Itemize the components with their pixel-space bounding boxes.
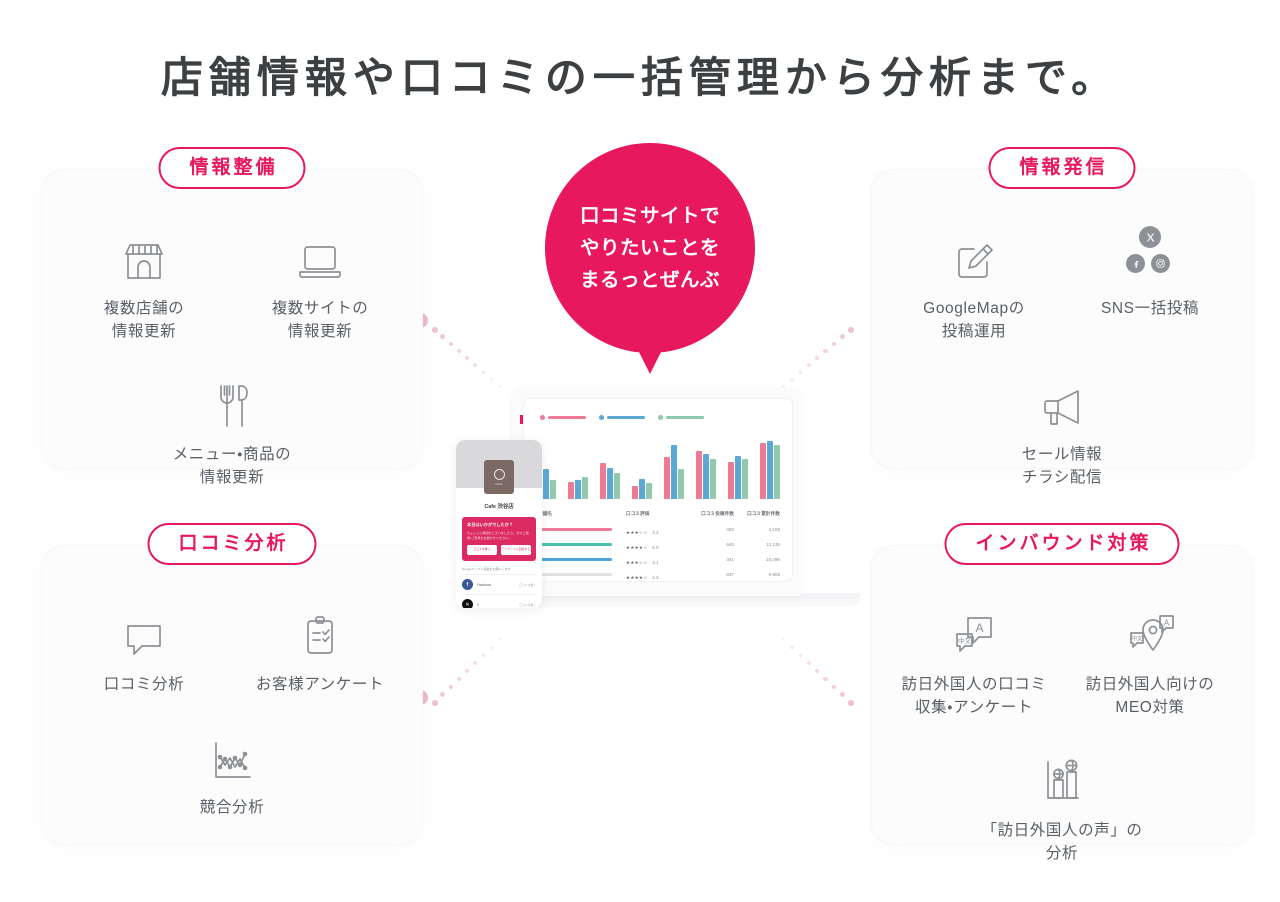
chart-bar xyxy=(735,456,741,499)
feature-competitor-analysis[interactable]: 競合分析 xyxy=(42,697,422,820)
bar-group xyxy=(728,456,748,499)
feature-label: SNS一括投稿 xyxy=(1101,298,1199,321)
phone-hero-image: Cafe xyxy=(456,440,542,488)
chart-bar xyxy=(760,443,766,499)
connector-dot xyxy=(473,363,477,367)
connector-dot xyxy=(832,342,837,347)
social-avatar-icon: ✕ xyxy=(462,599,473,608)
chart-bar xyxy=(710,459,716,499)
svg-text:A: A xyxy=(1164,619,1170,628)
pencil-square-icon xyxy=(938,224,1010,286)
chart-bar xyxy=(742,459,748,499)
column-header: 店舗名 xyxy=(538,511,626,517)
connector-dot xyxy=(465,356,469,360)
feature-label: 複数サイトの 情報更新 xyxy=(272,298,369,344)
post-count: 450 xyxy=(688,527,734,532)
connector-dot xyxy=(815,356,819,360)
card-badge: 情報発信 xyxy=(988,147,1135,189)
feature-label: メニュー・商品の 情報更新 xyxy=(173,444,292,490)
review-note: Googleマップへ投稿をお願いします xyxy=(462,567,536,571)
connector-dot xyxy=(432,700,438,706)
legend-item xyxy=(658,415,704,420)
social-action[interactable]: 口コミを書く xyxy=(519,583,536,587)
bar-group xyxy=(632,479,652,499)
connector-dot xyxy=(848,327,854,333)
chart-bar xyxy=(568,482,574,499)
map-pin-translate-icon: A 中文 xyxy=(1114,600,1186,662)
center-bubble-text: 口コミサイトで やりたいことを まるっとぜんぶ xyxy=(580,200,720,297)
write-review-button[interactable]: 口コミを書く xyxy=(467,545,497,555)
feature-menu-product-update[interactable]: メニュー・商品の 情報更新 xyxy=(42,344,422,490)
chart-bar xyxy=(600,463,606,499)
rating-stars: ★★★☆☆ xyxy=(626,530,648,535)
page-title: 店舗情報や口コミの一括管理から分析まで。 xyxy=(0,44,1280,105)
card-inbound-measures: インバウンド対策 A 中文 訪日外国人の口コミ 収集・アンケート xyxy=(872,546,1252,844)
bar-chart-globe-icon xyxy=(1026,746,1098,808)
feature-sns-bulk-post[interactable]: SNS一括投稿 xyxy=(1062,216,1238,344)
facebook-icon xyxy=(1126,254,1145,273)
feature-label: 複数店舗の 情報更新 xyxy=(104,298,185,344)
clipboard-check-icon xyxy=(284,600,356,662)
review-table: 店舗名 口コミ評価 口コミ投稿件数 口コミ累計件数 ★★★☆☆ 3.34504,… xyxy=(538,511,780,581)
social-review-row[interactable]: fFacebook口コミを書く xyxy=(462,574,536,594)
connector-dot xyxy=(848,700,854,706)
survey-prompt-card: 本日はいかがでしたか？ ちょこっと時間がございましたら、ぜひご感想・ご意見をお聞… xyxy=(462,517,536,561)
feature-label: GoogleMapの 投稿運用 xyxy=(923,298,1025,344)
speech-bubble-icon xyxy=(108,600,180,662)
connector-dot xyxy=(449,685,454,690)
chart-bar xyxy=(639,479,645,499)
connector-dot xyxy=(815,669,819,673)
bar-group xyxy=(664,445,684,499)
infographic-root: 店舗情報や口コミの一括管理から分析まで。 情報整備 複数店舗の 情報更新 xyxy=(0,0,1280,902)
chart-bar xyxy=(550,480,556,499)
store-color-swatch xyxy=(538,573,612,576)
social-avatar-icon: f xyxy=(462,579,473,590)
connector-dot xyxy=(790,646,794,650)
connector-dot xyxy=(449,342,454,347)
feature-googlemap-posting[interactable]: GoogleMapの 投稿運用 xyxy=(886,216,1062,344)
chart-bar xyxy=(671,445,677,499)
chart-bar xyxy=(767,441,773,499)
connector-dot xyxy=(465,669,469,673)
legend-dot-icon xyxy=(599,415,604,420)
rating-stars: ★★★☆☆ xyxy=(626,560,648,565)
svg-text:中文: 中文 xyxy=(1131,635,1143,643)
feature-label: 「訪日外国人の声」の 分析 xyxy=(981,820,1142,866)
store-color-swatch xyxy=(538,558,612,561)
column-header: 口コミ投稿件数 xyxy=(688,511,734,517)
connector-dot xyxy=(490,646,494,650)
connector-dot xyxy=(432,327,438,333)
feature-foreign-meo[interactable]: A 中文 訪日外国人向けの MEO対策 xyxy=(1062,592,1238,720)
connector-dot xyxy=(807,363,811,367)
logo-ring-icon xyxy=(494,469,505,480)
table-row[interactable]: ★★★★☆ 4.36379,908 xyxy=(538,567,780,581)
store-color-swatch xyxy=(538,528,612,531)
post-count: 341 xyxy=(688,557,734,562)
connector-dot xyxy=(790,378,794,382)
chart-bar xyxy=(632,486,638,499)
legend-dot-icon xyxy=(540,415,545,420)
connector-dot xyxy=(473,661,477,665)
connector-dot xyxy=(490,378,494,382)
store-color-swatch xyxy=(538,543,612,546)
column-header: 口コミ評価 xyxy=(626,511,688,517)
connector-dot xyxy=(457,349,462,354)
svg-text:A: A xyxy=(975,621,983,635)
total-count: 15,096 xyxy=(734,557,780,562)
device-mockup: 店舗名 口コミ評価 口コミ投稿件数 口コミ累計件数 ★★★☆☆ 3.34504,… xyxy=(440,388,860,623)
bar-group xyxy=(696,451,716,499)
survey-body: ちょこっと時間がございましたら、ぜひご感想・ご意見をお聞かせください。 xyxy=(467,531,531,540)
feature-customer-survey[interactable]: お客様アンケート xyxy=(232,592,408,697)
connector-dot xyxy=(782,638,785,641)
fork-knife-icon xyxy=(196,370,268,432)
social-label: X xyxy=(477,603,515,607)
chart-bar xyxy=(582,477,588,499)
center-bubble: 口コミサイトで やりたいことを まるっとぜんぶ xyxy=(545,143,755,353)
chart-bar xyxy=(703,454,709,499)
legend-line xyxy=(548,416,586,419)
connector-dot xyxy=(440,334,445,339)
chart-bar xyxy=(696,451,702,499)
feature-multi-site-update[interactable]: 複数サイトの 情報更新 xyxy=(232,216,408,344)
rating-value: 3.1 xyxy=(652,560,658,565)
chart-bar xyxy=(774,445,780,499)
card-badge: 情報整備 xyxy=(158,147,305,189)
card-badge: インバウンド対策 xyxy=(944,523,1179,565)
storefront-icon xyxy=(108,224,180,286)
chart-bar xyxy=(575,480,581,499)
connector-dot xyxy=(482,654,486,658)
connector-dot xyxy=(823,349,828,354)
center-bubble-tail xyxy=(637,348,663,374)
feature-review-analysis[interactable]: 口コミ分析 xyxy=(56,592,232,697)
feature-label: 競合分析 xyxy=(200,797,264,820)
chart-bar xyxy=(646,483,652,499)
bar-group xyxy=(568,477,588,499)
feature-foreign-voice-analysis[interactable]: 「訪日外国人の声」の 分析 xyxy=(872,720,1252,866)
total-count: 13,135 xyxy=(734,542,780,547)
chart-bar xyxy=(614,473,620,499)
connector-dot xyxy=(799,654,803,658)
chart-bar xyxy=(664,457,670,499)
social-label: Facebook xyxy=(477,583,515,587)
phone-mockup: Cafe Cafe 渋谷店 本日はいかがでしたか？ ちょこっと時間がございました… xyxy=(456,440,542,608)
post-count: 640 xyxy=(688,542,734,547)
total-count: 4,106 xyxy=(734,527,780,532)
connector-dot xyxy=(457,677,462,682)
connector-dot xyxy=(832,685,837,690)
card-information-organization: 情報整備 複数店舗の 情報更新 xyxy=(42,170,422,468)
legend-line xyxy=(607,416,645,419)
column-header: 口コミ累計件数 xyxy=(734,511,780,517)
shop-logo: Cafe xyxy=(484,460,514,494)
survey-heading: 本日はいかがでしたか？ xyxy=(467,522,531,528)
translate-bubbles-icon: A 中文 xyxy=(938,600,1010,662)
legend-item xyxy=(540,415,586,420)
laptop-icon xyxy=(284,224,356,286)
legend-line xyxy=(666,416,704,419)
shop-logo-label: Cafe xyxy=(495,482,503,486)
answer-survey-button[interactable]: アンケートに回答する xyxy=(501,545,531,555)
chart-bar xyxy=(543,469,549,499)
connector-dot xyxy=(440,692,445,697)
card-badge: 口コミ分析 xyxy=(147,523,316,565)
rating-stars: ★★★★☆ xyxy=(626,575,648,580)
feature-label: 訪日外国人向けの MEO対策 xyxy=(1086,674,1215,720)
x-icon xyxy=(1139,226,1161,248)
feature-label: 訪日外国人の口コミ 収集・アンケート xyxy=(902,674,1047,720)
card-review-analysis: 口コミ分析 口コミ分析 xyxy=(42,546,422,844)
feature-multi-store-update[interactable]: 複数店舗の 情報更新 xyxy=(56,216,232,344)
shop-name: Cafe 渋谷店 xyxy=(456,502,542,510)
rating-value: 4.0 xyxy=(652,545,658,550)
chart-legend xyxy=(540,415,704,420)
total-count: 9,908 xyxy=(734,572,780,577)
rating-stars: ★★★★☆ xyxy=(626,545,648,550)
svg-text:中文: 中文 xyxy=(958,636,972,645)
connector-dot xyxy=(498,638,501,641)
connector-dot xyxy=(823,677,828,682)
feature-sale-flyer-delivery[interactable]: セール情報 チラシ配信 xyxy=(872,344,1252,490)
feature-label: 口コミ分析 xyxy=(104,674,185,697)
feature-label: セール情報 チラシ配信 xyxy=(1022,444,1103,490)
bar-group xyxy=(760,441,780,499)
card-information-publishing: 情報発信 GoogleMapの 投稿運用 xyxy=(872,170,1252,468)
rating-value: 3.3 xyxy=(652,530,658,535)
connector-dot xyxy=(799,371,803,375)
connector-dot xyxy=(840,334,845,339)
feature-label: お客様アンケート xyxy=(256,674,384,697)
rating-value: 4.3 xyxy=(652,575,658,580)
bar-group xyxy=(600,463,620,499)
legend-item xyxy=(599,415,645,420)
megaphone-icon xyxy=(1026,370,1098,432)
social-action[interactable]: 口コミを書く xyxy=(519,603,536,607)
chart-bar xyxy=(607,468,613,499)
legend-dot-icon xyxy=(658,415,663,420)
sns-cluster-icon xyxy=(1114,224,1186,286)
instagram-icon xyxy=(1151,254,1170,273)
chart-bar xyxy=(678,469,684,499)
post-count: 637 xyxy=(688,572,734,577)
connector-dot xyxy=(807,661,811,665)
social-review-row[interactable]: ✕X口コミを書く xyxy=(462,594,536,608)
scatter-chart-icon xyxy=(196,723,268,785)
connector-dot xyxy=(482,371,486,375)
chart-bar xyxy=(728,462,734,499)
connector-dot xyxy=(840,692,845,697)
chart-plot xyxy=(536,437,780,499)
feature-foreign-review-collection[interactable]: A 中文 訪日外国人の口コミ 収集・アンケート xyxy=(886,592,1062,720)
dashboard-screen: 店舗名 口コミ評価 口コミ投稿件数 口コミ累計件数 ★★★☆☆ 3.34504,… xyxy=(524,399,792,581)
